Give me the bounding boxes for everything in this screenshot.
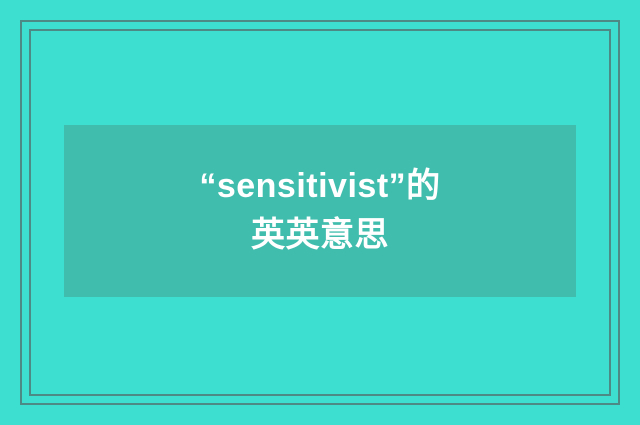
page-title: “sensitivist”的英英意思 [192, 162, 448, 261]
title-panel: “sensitivist”的英英意思 [64, 125, 576, 297]
poster-canvas: “sensitivist”的英英意思 [0, 0, 640, 425]
